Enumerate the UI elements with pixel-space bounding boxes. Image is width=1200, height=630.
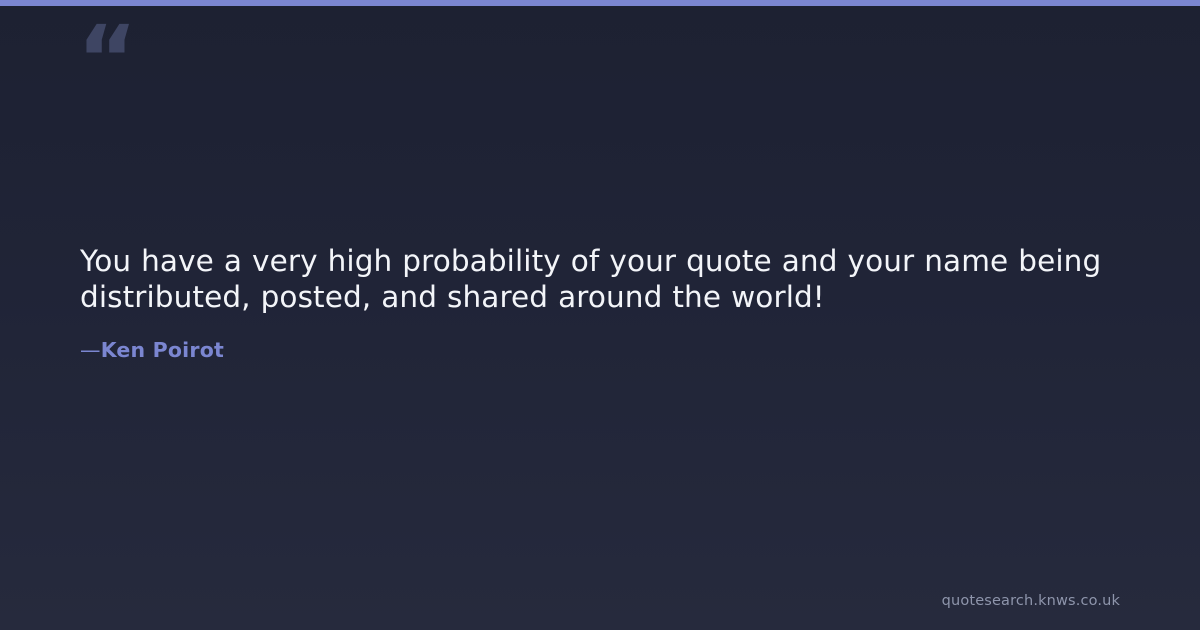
attribution-author-name: Ken Poirot: [101, 338, 224, 362]
source-watermark: quotesearch.knws.co.uk: [942, 593, 1120, 609]
quote-open-icon: “: [77, 14, 135, 106]
quote-attribution: — Ken Poirot: [80, 338, 224, 362]
attribution-dash: —: [80, 338, 101, 362]
quote-text: You have a very high probability of your…: [80, 243, 1120, 315]
top-accent-bar: [0, 0, 1200, 6]
quote-card: “ You have a very high probability of yo…: [0, 0, 1200, 630]
quote-body: You have a very high probability of your…: [80, 243, 1120, 315]
